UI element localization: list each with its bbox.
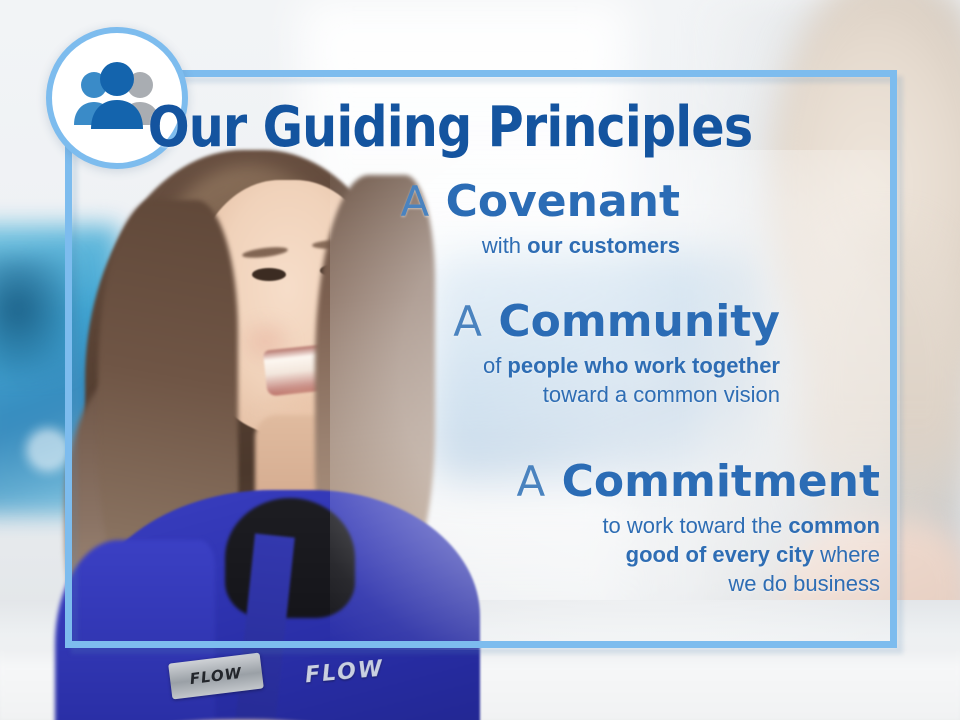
plain-text: of xyxy=(483,353,507,378)
text-content: Our Guiding Principles A Covenant with o… xyxy=(0,0,960,720)
subtext-line: to work toward the common xyxy=(280,511,880,540)
subtext-line: of people who work together xyxy=(220,351,780,380)
plain-text: where xyxy=(814,542,880,567)
principle-article: A xyxy=(517,457,547,506)
subtext-line: with our customers xyxy=(160,231,680,260)
principle-community: A Community of people who work togethert… xyxy=(220,300,780,409)
subtext-line: toward a common vision xyxy=(220,380,780,409)
principle-article: A xyxy=(401,177,431,226)
emphasis-text: common xyxy=(788,513,880,538)
emphasis-text: our customers xyxy=(527,233,680,258)
principle-subtext: of people who work togethertoward a comm… xyxy=(220,351,780,409)
principle-heading: A Covenant xyxy=(160,180,680,225)
principle-keyword: Commitment xyxy=(562,456,880,507)
plain-text: we do business xyxy=(728,571,880,596)
principle-covenant: A Covenant with our customers xyxy=(160,180,680,260)
page-title: Our Guiding Principles xyxy=(54,95,846,160)
principle-article: A xyxy=(453,297,483,346)
plain-text: with xyxy=(482,233,527,258)
subtext-line: we do business xyxy=(280,569,880,598)
principle-keyword: Covenant xyxy=(446,176,680,227)
principle-keyword: Community xyxy=(498,296,780,347)
emphasis-text: people who work together xyxy=(507,353,780,378)
subtext-line: good of every city where xyxy=(280,540,880,569)
plain-text: toward a common vision xyxy=(543,382,780,407)
principle-subtext: with our customers xyxy=(160,231,680,260)
principle-commitment: A Commitment to work toward the commongo… xyxy=(280,460,880,598)
emphasis-text: good of every city xyxy=(626,542,814,567)
principle-heading: A Commitment xyxy=(280,460,880,505)
guiding-principles-graphic: FLOW FLOW Our Guiding Principles xyxy=(0,0,960,720)
principle-subtext: to work toward the commongood of every c… xyxy=(280,511,880,598)
plain-text: to work toward the xyxy=(602,513,788,538)
principle-heading: A Community xyxy=(220,300,780,345)
